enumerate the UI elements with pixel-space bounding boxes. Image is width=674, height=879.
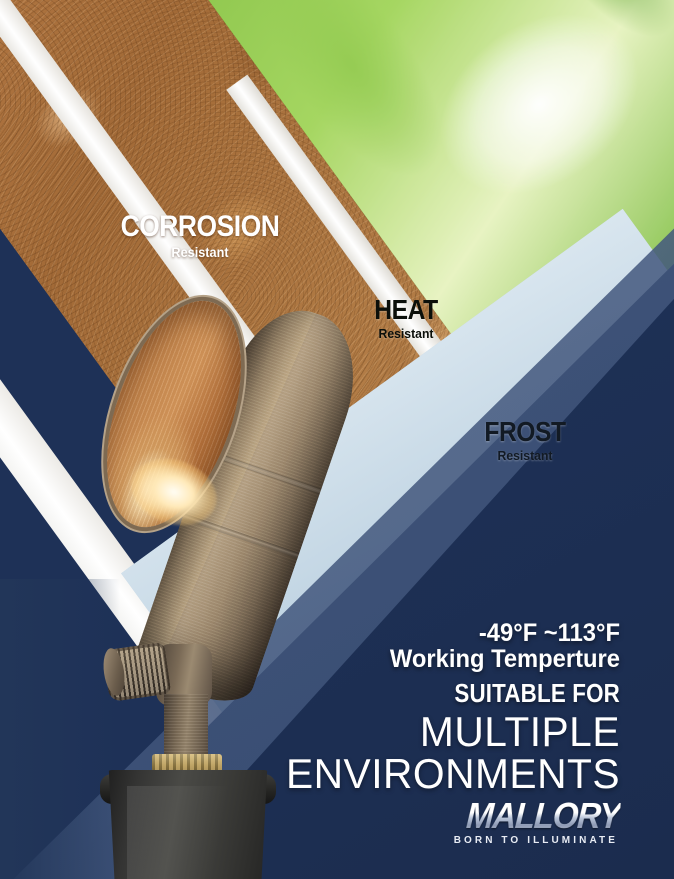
feature-subline-heat: Resistant: [335, 327, 478, 340]
brand-wordmark: MALLORY: [465, 795, 621, 837]
temperature-range: -49°F ~113°F: [297, 620, 620, 646]
headline-line-1: MULTIPLE: [174, 711, 620, 753]
feature-tag-corrosion: CORROSION Resistant: [92, 212, 308, 260]
feature-tag-heat: HEAT Resistant: [330, 296, 482, 340]
feature-tag-frost: FROST Resistant: [452, 418, 598, 462]
headline-line-2: ENVIRONMENTS: [174, 753, 620, 796]
product-marketing-poster: CORROSION Resistant HEAT Resistant FROST…: [0, 0, 674, 879]
working-temperature-block: -49°F ~113°F Working Temperture: [280, 620, 620, 674]
feature-headline-corrosion: CORROSION: [105, 212, 295, 242]
brand-logo: MALLORY ® BORN TO ILLUMINATE: [420, 795, 620, 846]
feature-headline-heat: HEAT: [339, 296, 473, 324]
ground-stake-ribs: [98, 788, 278, 879]
barrel-groove-upper: [204, 449, 321, 494]
headline-block: SUITABLE FOR MULTIPLE ENVIRONMENTS: [160, 678, 620, 796]
feature-subline-corrosion: Resistant: [98, 246, 301, 260]
headline-kicker: SUITABLE FOR: [224, 678, 620, 709]
temperature-label: Working Temperture: [297, 646, 620, 674]
feature-subline-frost: Resistant: [456, 449, 593, 462]
feature-headline-frost: FROST: [461, 418, 589, 446]
